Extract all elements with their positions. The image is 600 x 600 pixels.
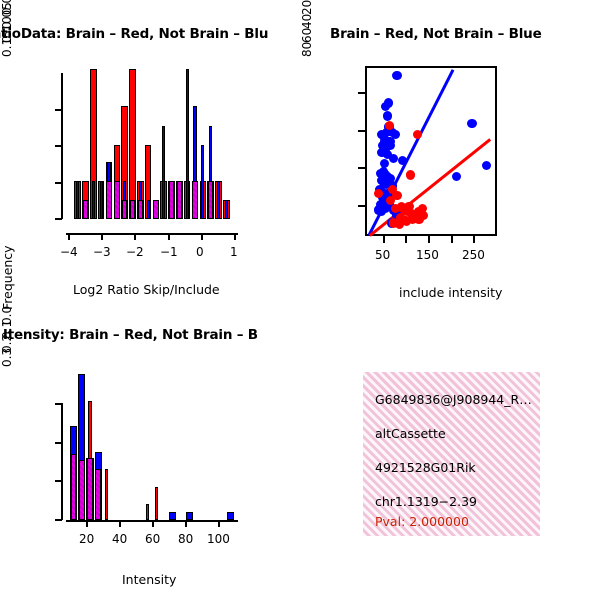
intensity-histogram-xtick-0 [86,520,88,527]
annotation-pval: Pval: 2.000000 [375,514,469,529]
ratio-histogram-xtick-5 [234,233,236,240]
ratio-histogram-xticklabel-5: 1 [230,245,238,259]
scatter-point [384,98,393,107]
scatter-point [404,202,413,211]
scatter-xtick-3 [451,236,453,243]
annotation-line-2: 4921528G01Rik [375,460,476,475]
ratio-histogram-xtick-3 [168,233,170,240]
intensity-histogram-yaxis [61,403,63,520]
histogram-bar [130,200,135,219]
intensity-histogram-xticklabel-4: 100 [207,532,230,546]
histogram-bar [162,126,165,219]
scatter-point [452,172,461,181]
panel-annotation: G6849836@J908944_R… altCassette 4921528G… [300,310,600,600]
scatter-xticklabel-0: 50 [375,248,390,262]
scatter-xtick-2 [428,236,430,243]
histogram-bar [155,487,158,520]
intensity-histogram-ytick-1 [55,480,62,482]
histogram-bar [129,69,136,219]
intensity-histogram-xtick-3 [185,520,187,527]
scatter-point [386,141,395,150]
histogram-bar [169,181,174,219]
annotation-line-0: G6849836@J908944_R… [375,392,532,407]
scatter-xticklabel-4: 250 [462,248,485,262]
scatter-point [392,71,401,80]
ratio-histogram-xticklabel-1: −3 [93,245,111,259]
scatter-point [418,204,427,213]
histogram-bar [169,512,176,520]
histogram-bar [71,454,77,520]
ratio-histogram-ytick-2 [55,145,62,147]
histogram-bar [87,458,93,520]
scatter-point [389,154,398,163]
histogram-bar [92,181,95,219]
ratio-histogram-xticklabel-0: −4 [60,245,78,259]
histogram-bar [201,145,204,219]
ratio-histogram-xticklabel-2: −2 [126,245,144,259]
scatter-xtick-0 [383,236,385,243]
scatter-point [414,215,423,224]
histogram-bar [208,181,213,219]
ratio-histogram-title: RatioData: Brain – Red, Not Brain – Blu [0,26,268,42]
ratio-histogram-xticklabel-4: 0 [196,245,204,259]
histogram-bar [79,460,85,520]
intensity-histogram-xticklabel-0: 20 [79,532,94,546]
panel-ratio-histogram: RatioData: Brain – Red, Not Brain – Blu … [0,0,300,310]
intensity-histogram-xtick-4 [218,520,220,527]
histogram-bar [76,181,79,219]
ratio-histogram-xtick-0 [68,233,70,240]
annotation-box: G6849836@J908944_R… altCassette 4921528G… [363,372,540,536]
panel-intensity-scatter: Brain – Red, Not Brain – Blue skip inten… [300,0,600,310]
scatter-ytick-0 [358,205,365,207]
histogram-bar [153,200,158,219]
histogram-bar [217,181,220,219]
histogram-bar [105,469,108,520]
scatter-title: Brain – Red, Not Brain – Blue [330,26,542,42]
histogram-bar [122,200,127,219]
ratio-histogram-title-clip: RatioData: Brain – Red, Not Brain – Blu [0,26,300,46]
panel-gene-intensity-histogram: ne Itensity: Brain – Red, Not Brain – B … [0,310,300,600]
scatter-point [385,121,394,130]
histogram-bar [147,200,150,219]
intensity-histogram-xticklabel-1: 40 [112,532,127,546]
annotation-line-1: altCassette [375,426,446,441]
scatter-point [391,204,400,213]
annotation-line-3: chr1.1319−2.39 [375,494,477,509]
intensity-histogram-title-clip: ne Itensity: Brain – Red, Not Brain – B [0,327,300,347]
scatter-ytick-1 [358,167,365,169]
scatter-ytick-3 [358,92,365,94]
intensity-histogram-xticklabel-2: 60 [145,532,160,546]
histogram-bar [95,469,101,520]
scatter-plot-frame [365,66,497,236]
histogram-bar [106,181,111,219]
histogram-bar [186,69,189,219]
scatter-point [413,130,422,139]
histogram-bar [225,200,228,219]
intensity-histogram-plot-area [66,368,238,520]
scatter-point [374,189,383,198]
intensity-histogram-title: ne Itensity: Brain – Red, Not Brain – B [0,327,258,343]
histogram-bar [177,181,182,219]
intensity-histogram-xtick-2 [152,520,154,527]
scatter-point [467,119,476,128]
ratio-histogram-ytick-0 [55,218,62,220]
scatter-point [395,220,404,229]
intensity-histogram-ytick-0 [55,519,62,521]
ratio-histogram-ytick-1 [55,182,62,184]
scatter-xtick-4 [473,236,475,243]
intensity-histogram-ytick-3 [55,403,62,405]
scatter-yticklabel-3: 80 [300,0,314,57]
scatter-ytick-2 [358,130,365,132]
histogram-bar [227,512,234,520]
scatter-point [398,156,407,165]
intensity-histogram-xtick-1 [119,520,121,527]
histogram-bar [114,181,119,219]
ratio-histogram-plot-area [66,60,238,219]
histogram-bar [138,200,143,219]
histogram-bar [192,181,197,219]
scatter-xlabel: include intensity [399,285,502,300]
ratio-histogram-xtick-2 [134,233,136,240]
scatter-xtick-1 [405,236,407,243]
histogram-bar [186,512,193,520]
ratio-histogram-ytick-3 [55,109,62,111]
histogram-bar [83,200,88,219]
scatter-point [383,111,392,120]
intensity-histogram-ytick-2 [55,442,62,444]
intensity-histogram-xticklabel-3: 80 [178,532,193,546]
ratio-histogram-xlabel: Log2 Ratio Skip/Include [73,282,220,297]
scatter-point [406,170,415,179]
ratio-histogram-xtick-4 [201,233,203,240]
histogram-bar [100,181,103,219]
intensity-histogram-xlabel: Intensity [122,572,176,587]
scatter-xticklabel-2: 150 [416,248,439,262]
intensity-histogram-yticklabel-3: 0.3 [0,67,14,367]
scatter-point [377,207,386,216]
ratio-histogram-xaxis [66,233,238,235]
ratio-histogram-xticklabel-3: −1 [160,245,178,259]
ratio-histogram-xtick-1 [101,233,103,240]
scatter-point [482,161,491,170]
histogram-bar [146,504,149,520]
